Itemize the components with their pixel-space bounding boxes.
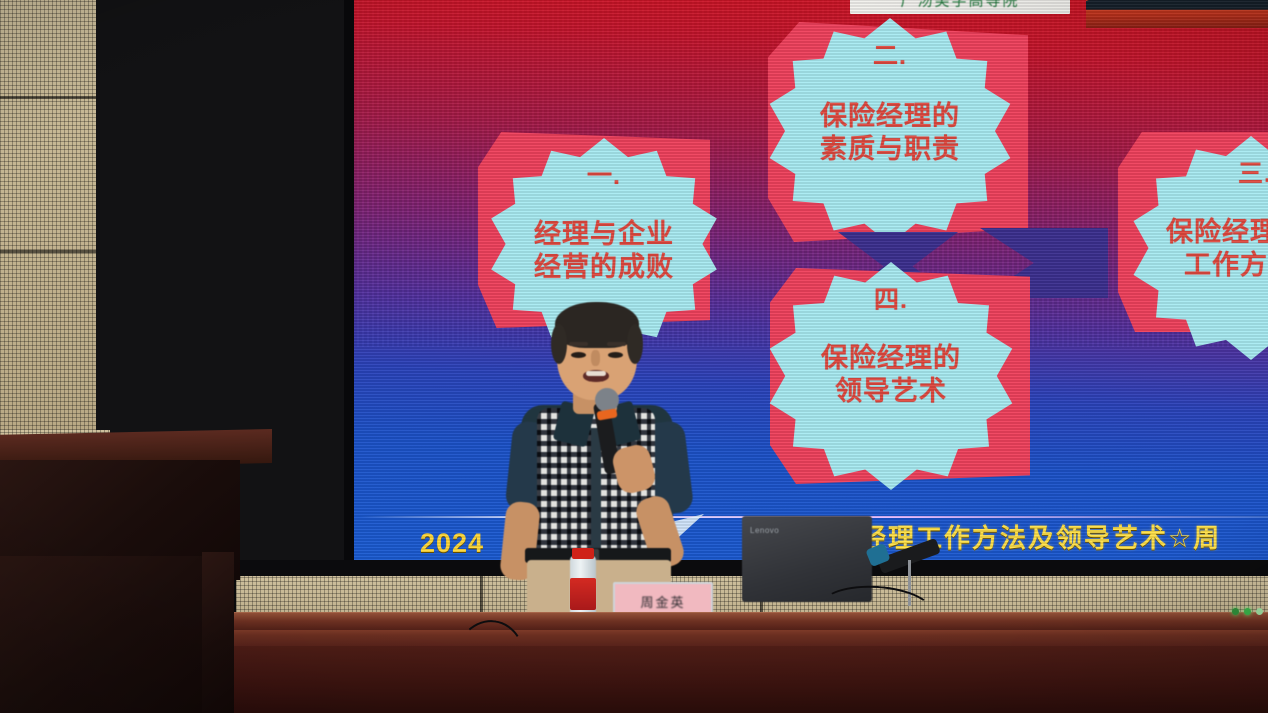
slide-top-banner-art (1086, 0, 1268, 28)
gear-4-number: 四. (874, 280, 908, 316)
gear-1-line2: 经营的成败 (534, 251, 674, 284)
gear-4-line2: 领导艺术 (835, 375, 947, 408)
speaker-eyebrow-right (607, 342, 626, 346)
water-bottle-cap (572, 548, 594, 559)
speaker-teeth (586, 371, 606, 376)
water-bottle-label (570, 578, 596, 610)
gear-4-line1: 保险经理的 (821, 342, 961, 375)
wall-panel-left-upper (0, 0, 96, 430)
gear-1-line1: 经理与企业 (534, 218, 674, 251)
photo-canvas: 广汤美学高等院 一. 经理与企业 经营的成败 二. 保险经理的 素质与职责 三.… (0, 0, 1268, 713)
speaker-eye-right (608, 352, 623, 358)
speaker-hair-right (627, 324, 643, 364)
podium-side-post (202, 552, 234, 713)
desk-top-edge (234, 612, 1268, 632)
wall-seam (0, 250, 96, 253)
wall-seam (0, 96, 96, 99)
speaker-figure (495, 300, 705, 620)
screen-bezel-left (344, 0, 354, 575)
speaker-nose (591, 350, 600, 366)
mountain-ridge-shape (1086, 0, 1268, 10)
status-led-green-3 (1256, 608, 1263, 615)
name-placard-text: 周金英 (640, 592, 685, 611)
slide-footer-year: 2024 (420, 528, 484, 559)
status-led-green-1 (1232, 608, 1239, 615)
speaker-eye-left (571, 352, 586, 358)
gear-3-line1: 保险经理的 (1166, 216, 1268, 249)
podium-column (0, 556, 202, 713)
speaker-eyebrow-left (569, 342, 588, 346)
gear-2-number: 二. (873, 36, 907, 72)
gear-1-number: 一. (587, 156, 621, 192)
gear-2-line1: 保险经理的 (820, 100, 960, 133)
gear-3-line2: 工作方法 (1184, 249, 1268, 282)
desk-front-panel (234, 646, 1268, 713)
slide-top-banner-label: 广汤美学高等院 (850, 0, 1070, 14)
speaker-hair-left (551, 324, 567, 364)
slide-top-banner-text: 广汤美学高等院 (900, 0, 1019, 10)
laptop-brand-logo: Lenovo (750, 526, 779, 535)
gear-3-number: 三. (1238, 154, 1268, 190)
status-led-green-2 (1244, 608, 1251, 615)
gear-2-line2: 素质与职责 (820, 133, 960, 166)
led-screen: 广汤美学高等院 一. 经理与企业 经营的成败 二. 保险经理的 素质与职责 三.… (352, 0, 1268, 560)
